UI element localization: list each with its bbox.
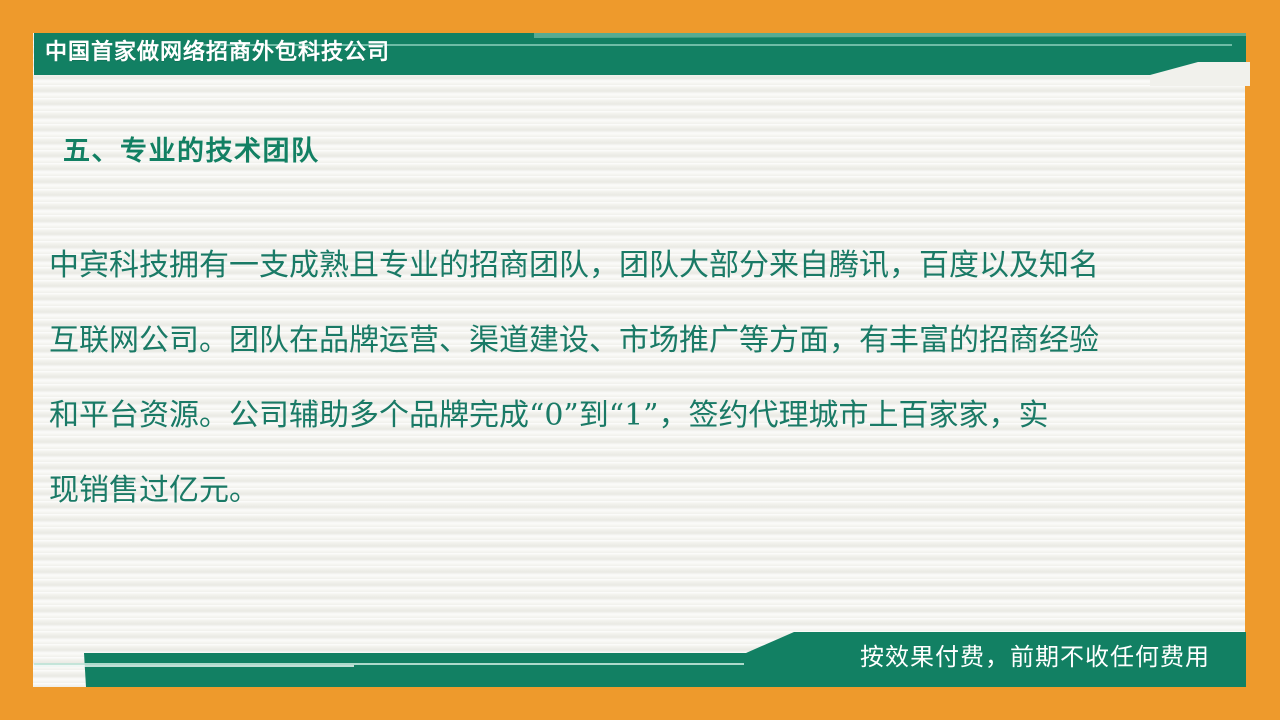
slide: 中国首家做网络招商外包科技公司 五、专业的技术团队 中宾科技拥有一支成熟且专业的… [0,0,1280,720]
body-paragraph: 中宾科技拥有一支成熟且专业的招商团队，团队大部分来自腾讯，百度以及知名 互联网公… [49,228,1184,528]
footer-divider-line [34,663,744,665]
footer-divider-line-highlight [34,665,354,667]
footer-tagline: 按效果付费，前期不收任何费用 [860,641,1210,673]
body-line: 现销售过亿元。 [49,453,1184,528]
header-title: 中国首家做网络招商外包科技公司 [45,38,390,68]
body-line: 互联网公司。团队在品牌运营、渠道建设、市场推广等方面，有丰富的招商经验 [49,303,1184,378]
section-heading: 五、专业的技术团队 [63,133,320,171]
body-line: 中宾科技拥有一支成熟且专业的招商团队，团队大部分来自腾讯，百度以及知名 [49,228,1184,303]
header-band-notch [1150,62,1250,86]
body-line: 和平台资源。公司辅助多个品牌完成“0”到“1”，签约代理城市上百家家，实 [49,378,1184,453]
